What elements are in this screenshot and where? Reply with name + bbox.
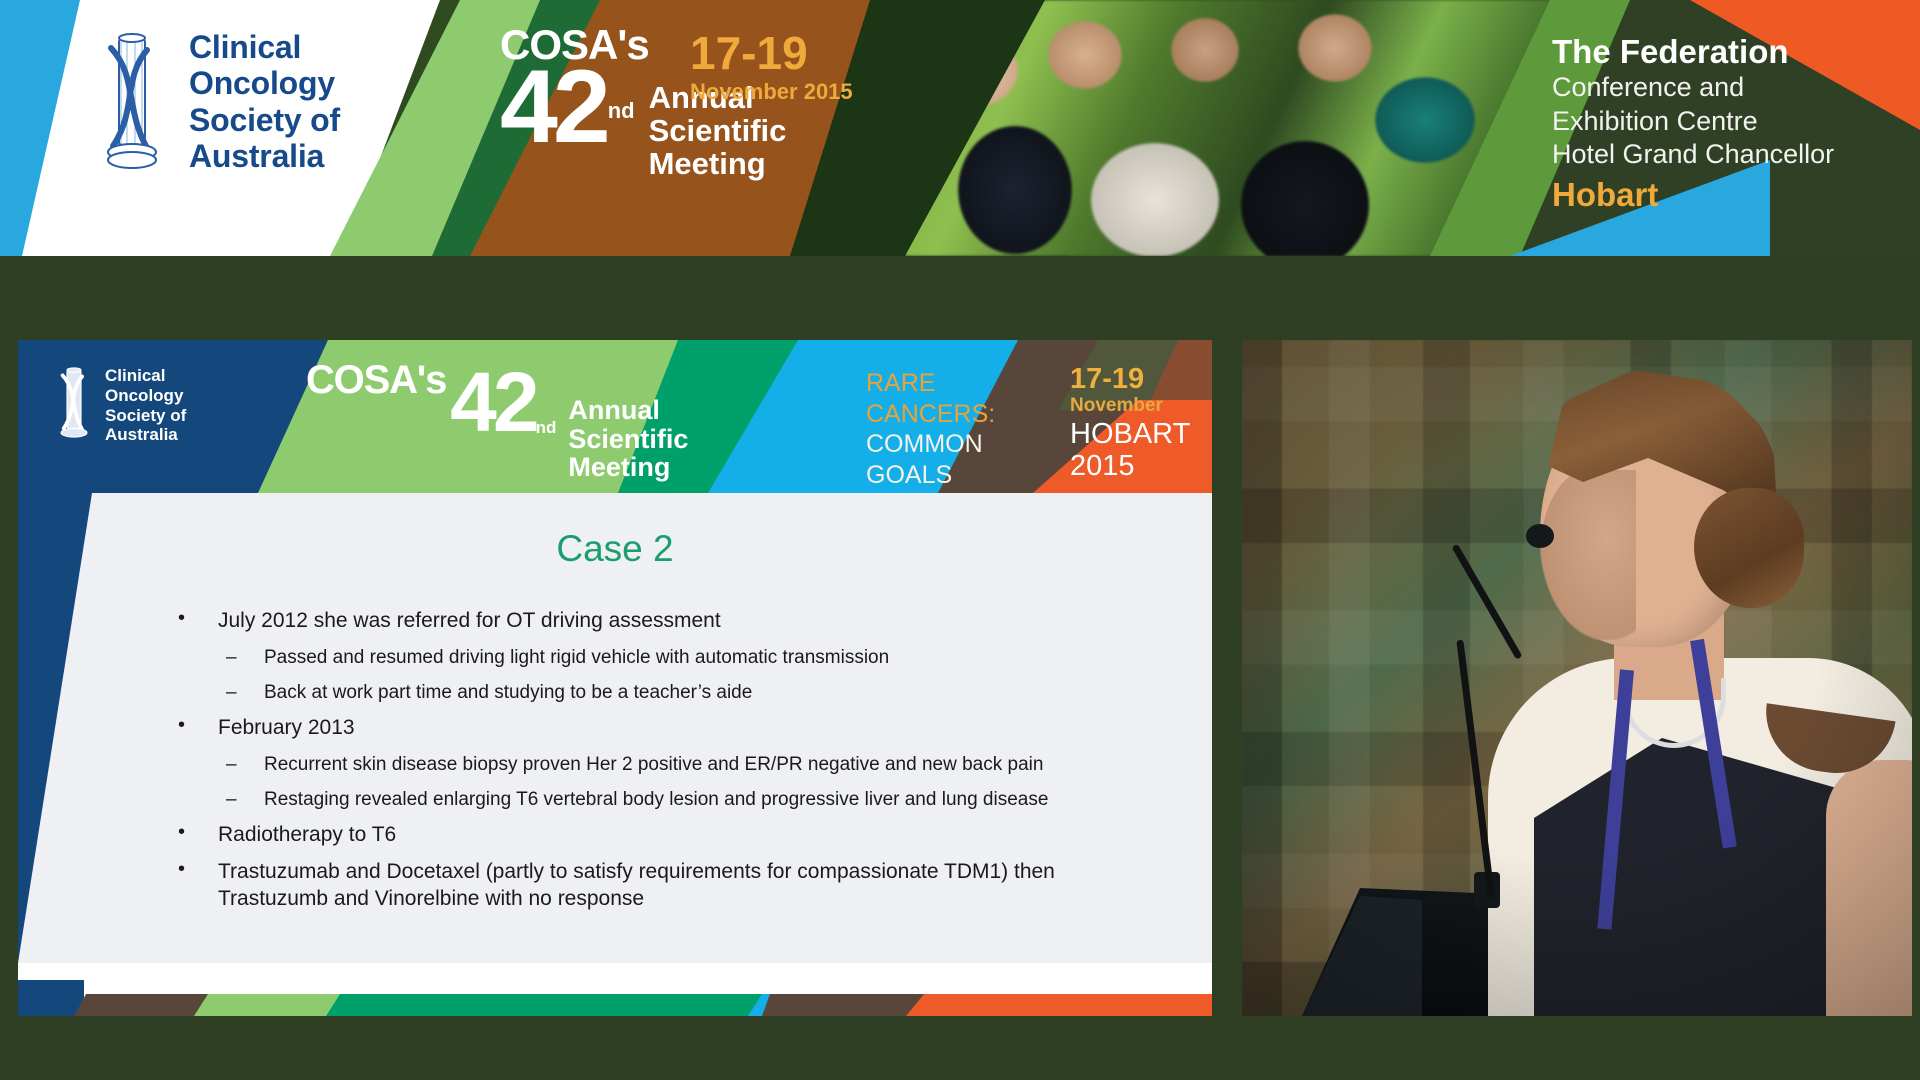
slide-logo-line-4: Australia [105,425,186,445]
list-item: February 2013 [178,715,1068,742]
slide-cosa-logo: Clinical Oncology Society of Australia [54,364,186,447]
cosa-logo: Clinical Oncology Society of Australia [95,28,340,175]
list-item: Back at work part time and studying to b… [178,680,1068,705]
venue-block: The Federation Conference and Exhibition… [1552,34,1834,214]
slide-event-meeting-name: Annual Scientific Meeting [568,396,688,482]
slide-date-city: HOBART [1070,419,1190,451]
slide-bullet-list: July 2012 she was referred for OT drivin… [178,608,1068,923]
cosa-vase-logo-icon [95,28,169,175]
list-item: Trastuzumab and Docetaxel (partly to sat… [178,859,1068,913]
slide-meeting-line-3: Meeting [568,453,688,482]
slide-date-year: 2015 [1070,451,1190,483]
footer-shape-brown-right [762,994,932,1016]
slide-logo-line-1: Clinical [105,366,186,386]
video-vignette [1242,340,1912,1016]
event-ordinal-number: 42 [500,62,606,154]
event-meeting-line-3: Meeting [649,148,787,181]
venue-title: The Federation [1552,34,1834,71]
footer-shape-green [326,994,766,1016]
content-stage: Clinical Oncology Society of Australia C… [0,256,1920,1080]
footer-shape-orange [906,994,1212,1016]
slide-date-month: November [1070,396,1190,417]
venue-city: Hobart [1552,176,1834,214]
venue-line-2: Exhibition Centre [1552,105,1834,139]
slide-logo-line-3: Society of [105,406,186,426]
list-item: Restaging revealed enlarging T6 vertebra… [178,787,1068,812]
presentation-slide[interactable]: Clinical Oncology Society of Australia C… [18,340,1212,1016]
slide-meeting-line-1: Annual [568,396,688,425]
slide-logo-line-2: Oncology [105,386,186,406]
slide-event-ordinal-number: 42 [450,364,535,441]
list-item: July 2012 she was referred for OT drivin… [178,608,1068,635]
venue-line-3: Hotel Grand Chancellor [1552,138,1834,172]
conference-banner: Clinical Oncology Society of Australia C… [0,0,1920,256]
slide-event-title-block: COSA's 42 nd Annual Scientific Meeting [306,360,688,482]
theme-line-3: COMMON [866,429,995,460]
event-date-block: 17-19 November 2015 [690,30,853,105]
slide-event-ordinal-suffix: nd [536,418,557,438]
list-item: Recurrent skin disease biopsy proven Her… [178,752,1068,777]
cosa-logo-wordmark: Clinical Oncology Society of Australia [189,29,340,175]
slide-cosa-vase-logo-icon [54,364,94,447]
footer-shape-blue [18,980,84,1016]
speaker-video-panel[interactable] [1242,340,1912,1016]
theme-line-2: CANCERS: [866,399,995,430]
event-meeting-line-2: Scientific [649,115,787,148]
event-ordinal-suffix: nd [608,98,635,124]
slide-meeting-line-2: Scientific [568,425,688,454]
slide-event-owner: COSA's [306,360,446,400]
slide-date-range: 17-19 [1070,364,1190,396]
theme-line-1: RARE [866,368,995,399]
slide-cosa-wordmark: Clinical Oncology Society of Australia [105,366,186,445]
slide-date-block: 17-19 November HOBART 2015 [1070,364,1190,483]
venue-line-1: Conference and [1552,71,1834,105]
footer-shape-light-green [194,994,344,1016]
cosa-logo-line-4: Australia [189,138,340,174]
list-item: Radiotherapy to T6 [178,822,1068,849]
cosa-logo-line-2: Oncology [189,65,340,101]
event-date-range: 17-19 [690,30,853,76]
theme-line-4: GOALS [866,460,995,491]
slide-title: Case 2 [18,528,1212,570]
footer-shape-brown-left [74,994,214,1016]
conference-theme: RARE CANCERS: COMMON GOALS [866,368,995,490]
event-date-month-year: November 2015 [690,79,853,105]
list-item: Passed and resumed driving light rigid v… [178,645,1068,670]
cosa-logo-line-3: Society of [189,102,340,138]
cosa-logo-line-1: Clinical [189,29,340,65]
slide-footer-bar [18,980,1212,1016]
